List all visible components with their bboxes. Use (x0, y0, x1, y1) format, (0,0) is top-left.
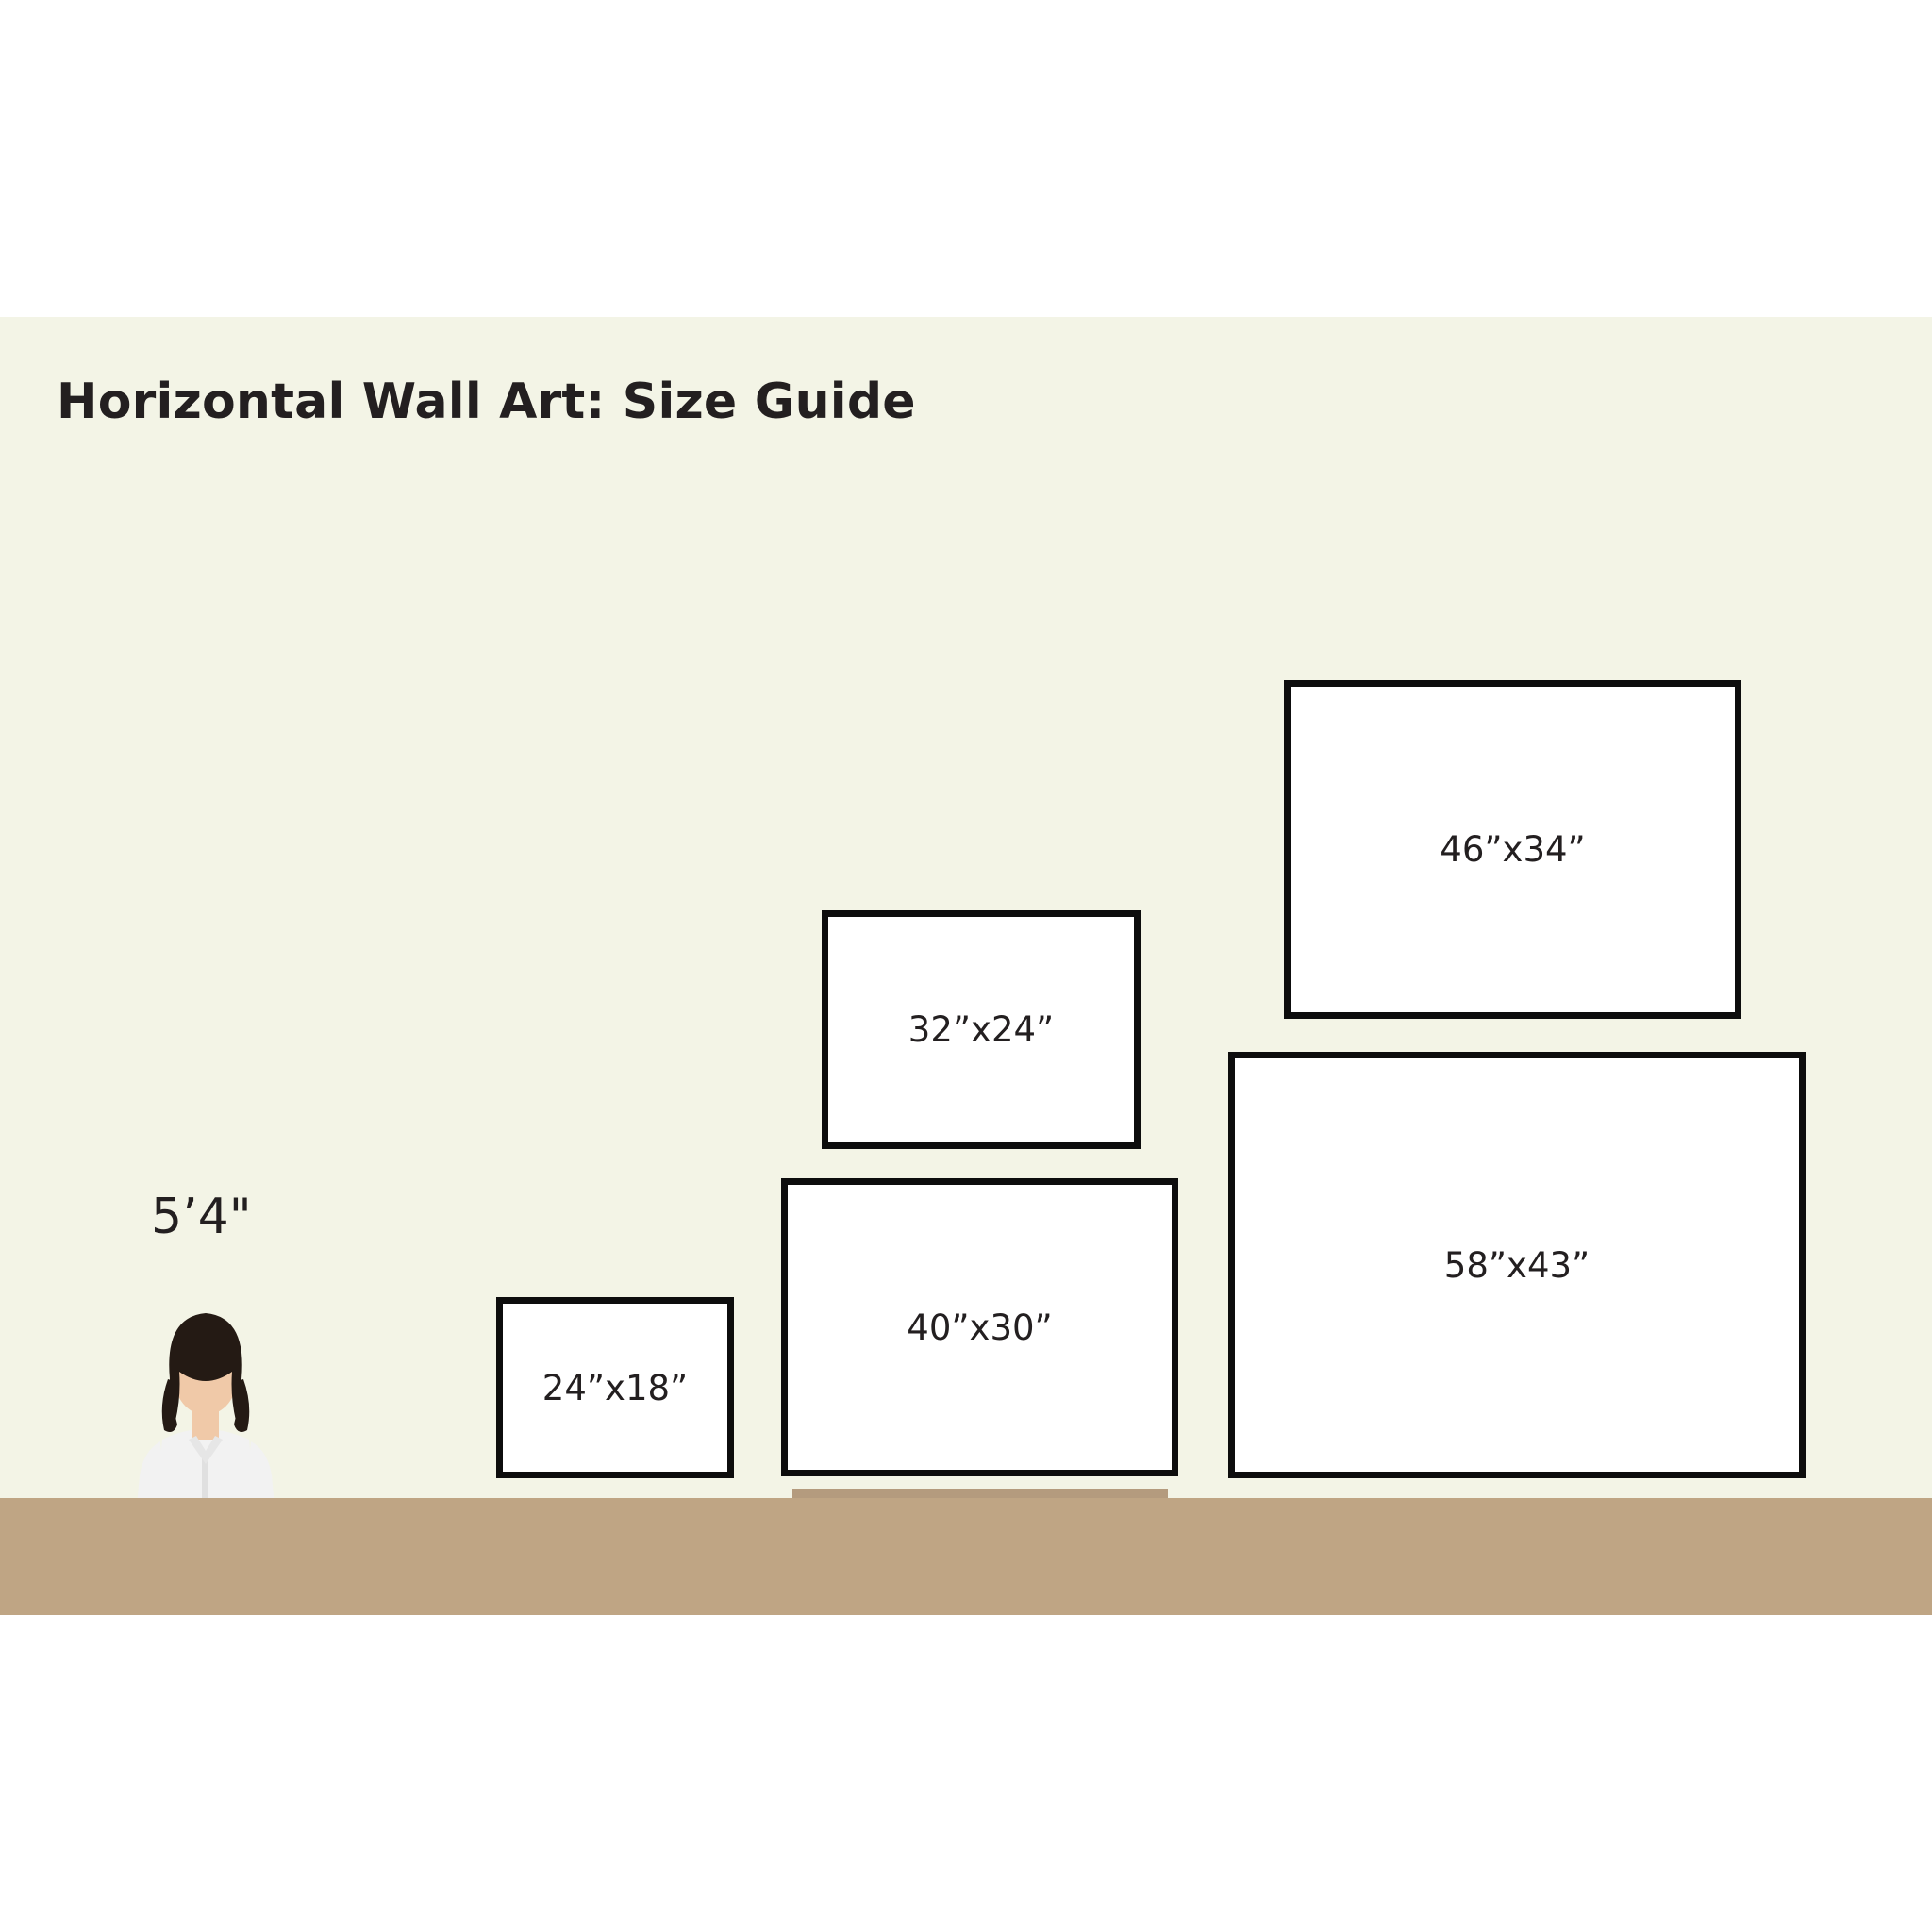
art-frame-label: 40”x30” (907, 1307, 1052, 1348)
wall-scene: Horizontal Wall Art: Size Guide 24”x18” … (0, 317, 1932, 1615)
size-guide-illustration: Horizontal Wall Art: Size Guide 24”x18” … (0, 0, 1932, 1932)
art-frame-40x30[interactable]: 40”x30” (781, 1178, 1178, 1476)
art-frame-46x34[interactable]: 46”x34” (1284, 680, 1741, 1019)
art-frame-label: 32”x24” (908, 1009, 1054, 1050)
page-title: Horizontal Wall Art: Size Guide (57, 374, 916, 430)
art-frame-label: 24”x18” (542, 1368, 688, 1408)
art-frame-24x18[interactable]: 24”x18” (496, 1297, 734, 1478)
art-frame-label: 58”x43” (1444, 1245, 1590, 1286)
person-height-label: 5’4" (151, 1189, 252, 1245)
art-frame-label: 46”x34” (1440, 829, 1585, 870)
art-frame-58x43[interactable]: 58”x43” (1228, 1052, 1806, 1478)
floor-strip (0, 1498, 1932, 1615)
art-frame-32x24[interactable]: 32”x24” (822, 910, 1141, 1149)
